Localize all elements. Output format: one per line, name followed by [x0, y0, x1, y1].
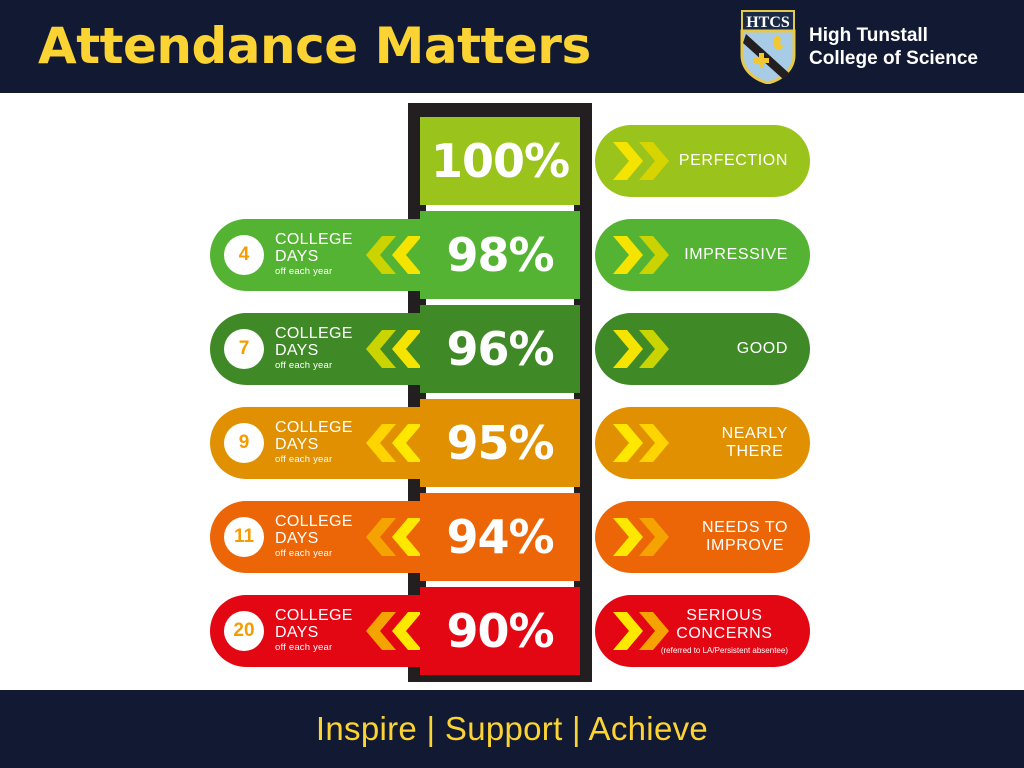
school-logo: HTCS High Tunstall College of Science: [740, 8, 978, 86]
attendance-percent: 90%: [446, 608, 553, 654]
chevron-left-group: [352, 330, 422, 373]
rating-label-line2: THERE: [722, 443, 788, 461]
college-days-label: COLLEGEDAYSoff each year: [275, 420, 353, 466]
chevron-right-group: [613, 518, 683, 561]
ladder-rung: 94%: [420, 493, 580, 581]
chevron-right-group: [613, 612, 683, 655]
rating-label-line1: GOOD: [737, 340, 788, 358]
attendance-percent: 95%: [446, 420, 553, 466]
rating-label: IMPRESSIVE: [684, 246, 788, 264]
college-days-label: COLLEGEDAYSoff each year: [275, 608, 353, 654]
page-title: Attendance Matters: [38, 14, 591, 78]
page-footer: Inspire | Support | Achieve: [0, 690, 1024, 768]
footer-motto: Inspire | Support | Achieve: [316, 710, 708, 748]
rating-label: NEEDS TOIMPROVE: [702, 519, 788, 555]
ladder-row: 4COLLEGEDAYSoff each year98%IMPRESSIVE: [0, 211, 1024, 299]
chevron-left-icon: [352, 236, 422, 274]
college-days-line1: COLLEGE: [275, 326, 353, 342]
ladder-rung: 96%: [420, 305, 580, 393]
chevron-right-group: [613, 142, 683, 185]
college-days-line1: COLLEGE: [275, 232, 353, 248]
chevron-left-icon: [352, 612, 422, 650]
chevron-left-group: [352, 236, 422, 279]
attendance-percent: 98%: [446, 232, 553, 278]
ladder-row: 11COLLEGEDAYSoff each year94%NEEDS TOIMP…: [0, 493, 1024, 581]
rating-label-line1: NEEDS TO: [702, 519, 788, 537]
ladder-row: 9COLLEGEDAYSoff each year95%NEARLYTHERE: [0, 399, 1024, 487]
college-days-label: COLLEGEDAYSoff each year: [275, 514, 353, 560]
ladder-row: 7COLLEGEDAYSoff each year96%GOOD: [0, 305, 1024, 393]
college-days-line1: COLLEGE: [275, 420, 353, 436]
college-days-line2: DAYS: [275, 530, 353, 547]
rating-label: NEARLYTHERE: [722, 425, 788, 461]
ladder-row: 20COLLEGEDAYSoff each year90%SERIOUSCONC…: [0, 587, 1024, 675]
rating-label-line2: IMPROVE: [702, 537, 788, 555]
college-days-count: 20: [224, 611, 264, 651]
chevron-right-group: [613, 330, 683, 373]
college-days-line3: off each year: [275, 453, 353, 466]
school-name-line2: College of Science: [809, 47, 978, 70]
ladder-row: 100%PERFECTION: [0, 117, 1024, 205]
attendance-percent: 100%: [431, 138, 569, 184]
college-days-line1: COLLEGE: [275, 608, 353, 624]
college-days-label: COLLEGEDAYSoff each year: [275, 232, 353, 278]
chevron-right-icon: [613, 330, 683, 368]
chevron-left-icon: [352, 518, 422, 556]
college-days-line3: off each year: [275, 641, 353, 654]
chevron-right-icon: [613, 612, 683, 650]
chevron-left-icon: [352, 424, 422, 462]
college-days-line3: off each year: [275, 547, 353, 560]
chevron-right-group: [613, 424, 683, 467]
college-days-line2: DAYS: [275, 342, 353, 359]
ladder-rung: 100%: [420, 117, 580, 205]
college-days-label: COLLEGEDAYSoff each year: [275, 326, 353, 372]
college-days-count: 11: [224, 517, 264, 557]
chevron-right-icon: [613, 518, 683, 556]
school-crest-icon: HTCS: [740, 10, 796, 84]
school-name-line1: High Tunstall: [809, 24, 978, 47]
chevron-left-icon: [352, 330, 422, 368]
rating-label: PERFECTION: [679, 152, 788, 170]
school-name: High Tunstall College of Science: [809, 24, 978, 70]
rating-label: GOOD: [737, 340, 788, 358]
ladder-rung: 98%: [420, 211, 580, 299]
chevron-right-icon: [613, 424, 683, 462]
rating-pill: IMPRESSIVE: [595, 219, 810, 291]
rating-pill: GOOD: [595, 313, 810, 385]
attendance-poster: Attendance Matters HTCS High Tunstall Co…: [0, 0, 1024, 768]
ladder-board: 100%PERFECTION4COLLEGEDAYSoff each year9…: [0, 93, 1024, 690]
college-days-count: 7: [224, 329, 264, 369]
college-days-line2: DAYS: [275, 436, 353, 453]
college-days-line1: COLLEGE: [275, 514, 353, 530]
attendance-percent: 96%: [446, 326, 553, 372]
chevron-left-group: [352, 518, 422, 561]
college-days-line3: off each year: [275, 265, 353, 278]
chevron-right-group: [613, 236, 683, 279]
college-days-line2: DAYS: [275, 248, 353, 265]
chevron-left-group: [352, 424, 422, 467]
college-days-count: 9: [224, 423, 264, 463]
rating-label-line1: IMPRESSIVE: [684, 246, 788, 264]
college-days-line3: off each year: [275, 359, 353, 372]
rating-pill: NEEDS TOIMPROVE: [595, 501, 810, 573]
college-days-line2: DAYS: [275, 624, 353, 641]
ladder-rung: 90%: [420, 587, 580, 675]
ladder-rung: 95%: [420, 399, 580, 487]
rating-pill: NEARLYTHERE: [595, 407, 810, 479]
rating-pill: SERIOUSCONCERNS(referred to LA/Persisten…: [595, 595, 810, 667]
chevron-right-icon: [613, 142, 683, 180]
rating-label-line1: NEARLY: [722, 425, 788, 443]
rating-label-line1: PERFECTION: [679, 152, 788, 170]
page-header: Attendance Matters HTCS High Tunstall Co…: [0, 0, 1024, 93]
chevron-left-group: [352, 612, 422, 655]
svg-text:HTCS: HTCS: [746, 14, 790, 31]
chevron-right-icon: [613, 236, 683, 274]
attendance-percent: 94%: [446, 514, 553, 560]
college-days-count: 4: [224, 235, 264, 275]
rating-pill: PERFECTION: [595, 125, 810, 197]
